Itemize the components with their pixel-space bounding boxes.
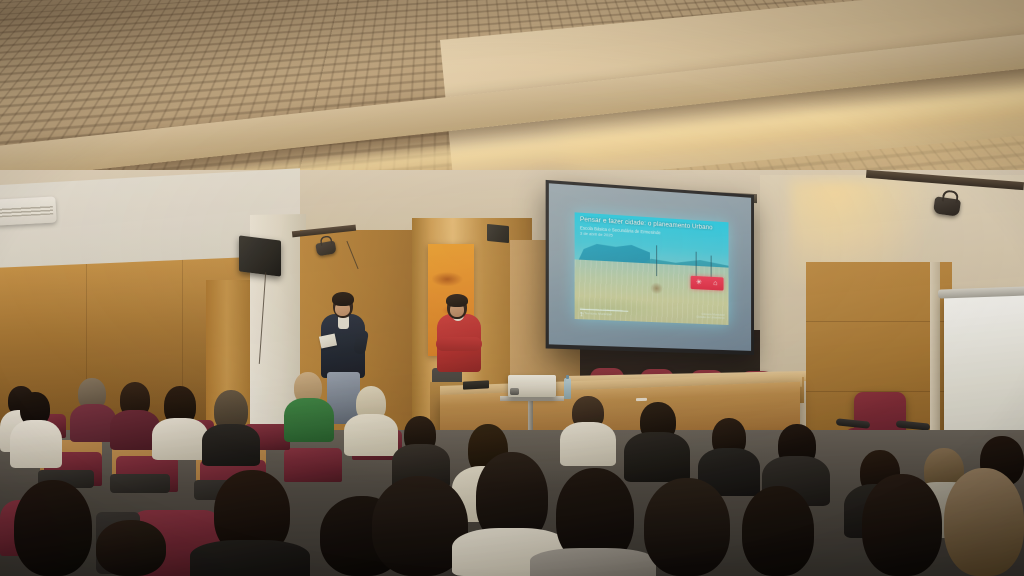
audience-shoulders [624,432,690,482]
audience-shoulders [344,414,398,456]
wall-speaker-icon [239,235,281,276]
whiteboard-marker [636,398,647,401]
water-bottle [564,378,571,399]
wall-speaker-secondary-icon [487,224,509,243]
seat-tablet-2 [110,474,170,493]
presenter-1-hair [332,292,354,306]
audience-head-foreground [14,480,92,576]
audience-head-foreground-curly [644,478,730,576]
auditorium-photo: Pensar e fazer cidade: o planeamento Urb… [0,0,1024,576]
municipal-logo-icon: ✳ ⌂ [691,276,724,291]
slide-footer-right: Câmara Municipal Divisão de Urbanismo [685,312,725,321]
presentation-slide: Pensar e fazer cidade: o planeamento Urb… [575,212,729,325]
audience-shoulders-foreground [190,540,310,576]
audience-head-foreground [862,474,942,576]
slide-photo-pole-1 [656,245,657,276]
audience-shoulders [284,398,334,442]
audience-shoulders-foreground [530,548,656,576]
audience-shoulders [10,420,62,468]
audience-head-foreground [96,520,166,576]
air-conditioner-icon [0,196,57,225]
logo-glyph-house-icon: ⌂ [711,279,720,289]
slide-photo-shrub [650,282,663,295]
audience-shoulders [152,418,208,460]
auditorium-seat-4 [284,448,342,482]
audience-shoulders [202,424,260,466]
presenter-2-crossed-arms [436,337,482,351]
slide-photo-pole-3 [711,255,712,278]
slide-photo-pole-2 [696,251,697,278]
presenter-2-hair [446,294,468,307]
dark-equipment-on-desk [463,380,489,389]
audience-shoulders [560,422,616,466]
projector-lens-icon [510,388,519,395]
audience-head-foreground [742,486,814,576]
audience-head-foreground-blond [944,468,1024,576]
logo-glyph-star-icon: ✳ [694,278,703,288]
slide-page-number: 1 [580,312,583,318]
screen-surface: Pensar e fazer cidade: o planeamento Urb… [549,183,751,351]
projection-screen: Pensar e fazer cidade: o planeamento Urb… [546,180,754,355]
